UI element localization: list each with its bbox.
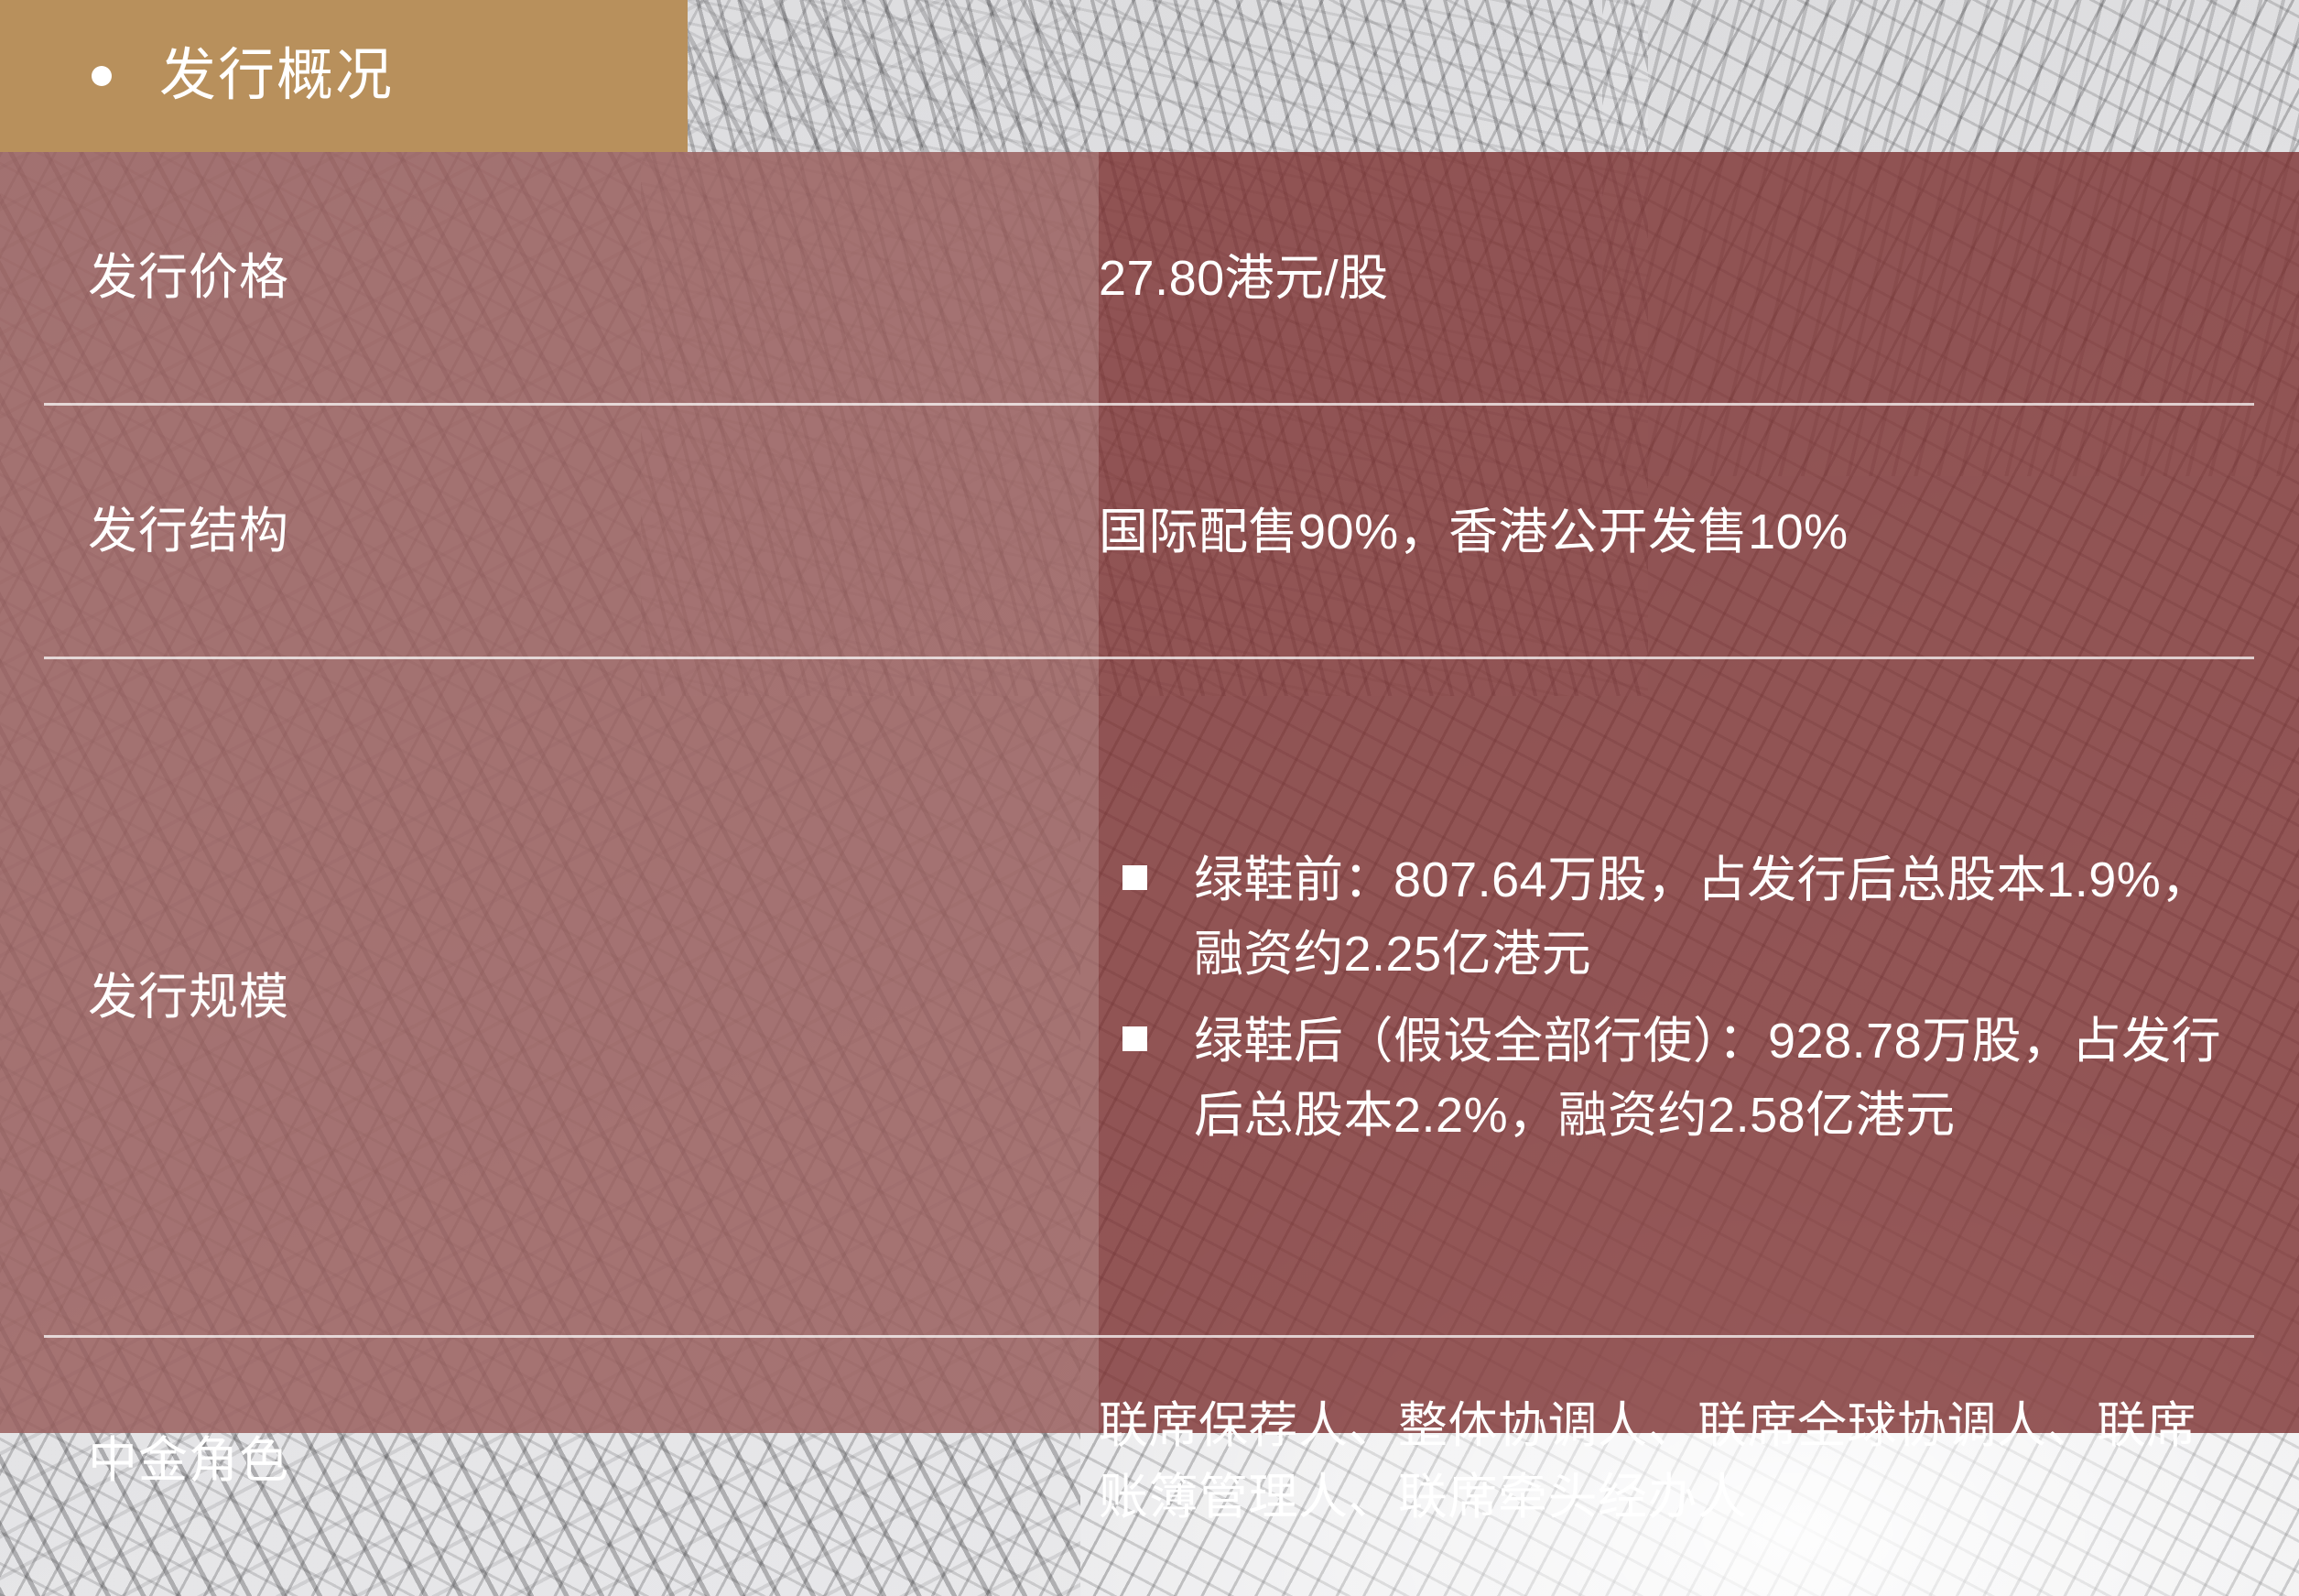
- square-bullet-icon: [1122, 1026, 1147, 1051]
- row-label-issue-scale: 发行规模: [0, 967, 1099, 1029]
- slide-root: 发行概况 发行价格 27.80港元/股 发行结构 国际配售90%，香港公开发售1…: [0, 0, 2299, 1596]
- row-value-issue-structure: 国际配售90%，香港公开发售10%: [1099, 496, 2299, 568]
- table-row: 发行规模 绿鞋前：807.64万股，占发行后总股本1.9%，融资约2.25亿港元…: [0, 659, 2299, 1337]
- row-label-issue-price: 发行价格: [0, 247, 1099, 309]
- row-value-issue-scale: 绿鞋前：807.64万股，占发行后总股本1.9%，融资约2.25亿港元 绿鞋后（…: [1099, 843, 2299, 1153]
- row-label-issue-structure: 发行结构: [0, 501, 1099, 563]
- table-row: 发行结构 国际配售90%，香港公开发售10%: [0, 406, 2299, 658]
- table-row: 中金角色 联席保荐人、整体协调人、联席全球协调人、联席账簿管理人、联席牵头经办人: [0, 1338, 2299, 1585]
- list-item-text: 绿鞋前：807.64万股，占发行后总股本1.9%，融资约2.25亿港元: [1194, 852, 2211, 982]
- issue-scale-bullet-list: 绿鞋前：807.64万股，占发行后总股本1.9%，融资约2.25亿港元 绿鞋后（…: [1099, 843, 2235, 1153]
- list-item-text: 绿鞋后（假设全部行使）：928.78万股，占发行后总股本2.2%，融资约2.58…: [1194, 1014, 2221, 1143]
- issuance-overview-table: 发行价格 27.80港元/股 发行结构 国际配售90%，香港公开发售10% 发行…: [0, 152, 2299, 1433]
- list-item: 绿鞋后（假设全部行使）：928.78万股，占发行后总股本2.2%，融资约2.58…: [1099, 1004, 2235, 1153]
- list-item: 绿鞋前：807.64万股，占发行后总股本1.9%，融资约2.25亿港元: [1099, 843, 2235, 992]
- row-value-cicc-role: 联席保荐人、整体协调人、联席全球协调人、联席账簿管理人、联席牵头经办人: [1099, 1390, 2299, 1534]
- row-value-issue-price: 27.80港元/股: [1099, 243, 2299, 314]
- row-label-cicc-role: 中金角色: [0, 1430, 1099, 1493]
- table-row: 发行价格 27.80港元/股: [0, 152, 2299, 405]
- square-bullet-icon: [1122, 865, 1147, 890]
- bullet-dot-icon: [92, 66, 112, 86]
- section-header: 发行概况: [0, 0, 688, 152]
- page-title: 发行概况: [159, 48, 394, 104]
